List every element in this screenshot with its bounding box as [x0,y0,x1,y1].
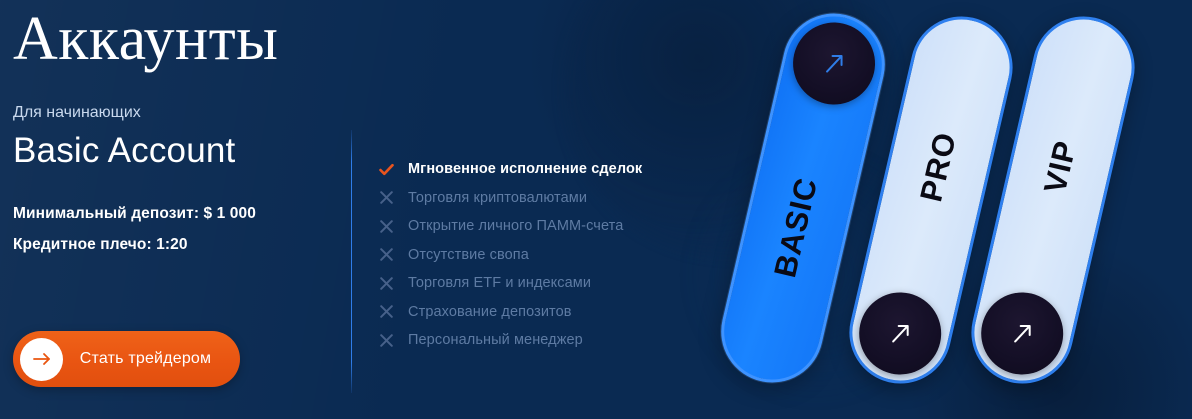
account-name: Basic Account [13,131,343,171]
feature-row: Мгновенное исполнение сделок [378,155,698,184]
feature-label: Торговля ETF и индексами [408,275,591,291]
feature-label: Мгновенное исполнение сделок [408,161,642,177]
arrow-right-icon [20,338,63,381]
feature-list: Мгновенное исполнение сделокТорговля кри… [378,155,698,355]
plan-card-basic-label: BASIC [767,179,824,281]
plan-card-vip-label: VIP [1032,116,1089,218]
feature-row: Страхование депозитов [378,298,698,327]
cross-icon [378,275,400,292]
arrow-up-right-icon [973,284,1071,382]
feature-row: Торговля ETF и индексами [378,269,698,298]
feature-label: Торговля криптовалютами [408,190,587,206]
cross-icon [378,246,400,263]
become-trader-button[interactable]: Стать трейдером [13,331,240,387]
feature-row: Персональный менеджер [378,326,698,355]
cross-icon [378,218,400,235]
page-title: Аккаунты [13,8,343,70]
feature-row: Открытие личного ПАММ-счета [378,212,698,241]
account-info-column: Аккаунты Для начинающих Basic Account Ми… [13,8,343,254]
cross-icon [378,303,400,320]
cross-icon [378,332,400,349]
vertical-divider [351,130,352,393]
feature-row: Отсутствие свопа [378,241,698,270]
account-tier-caption: Для начинающих [13,104,343,122]
feature-label: Открытие личного ПАММ-счета [408,218,623,234]
cross-icon [378,189,400,206]
leverage-value: Кредитное плечо: 1:20 [13,236,343,254]
check-icon [378,161,400,178]
feature-label: Страхование депозитов [408,304,572,320]
become-trader-label: Стать трейдером [63,350,240,368]
arrow-up-right-icon [785,14,883,112]
feature-row: Торговля криптовалютами [378,184,698,213]
arrow-up-right-icon [851,284,949,382]
accounts-hero-section: Аккаунты Для начинающих Basic Account Ми… [0,0,1192,419]
min-deposit-value: Минимальный депозит: $ 1 000 [13,205,343,223]
feature-label: Отсутствие свопа [408,247,529,263]
feature-label: Персональный менеджер [408,332,583,348]
plan-card-pro-label: PRO [910,116,967,218]
